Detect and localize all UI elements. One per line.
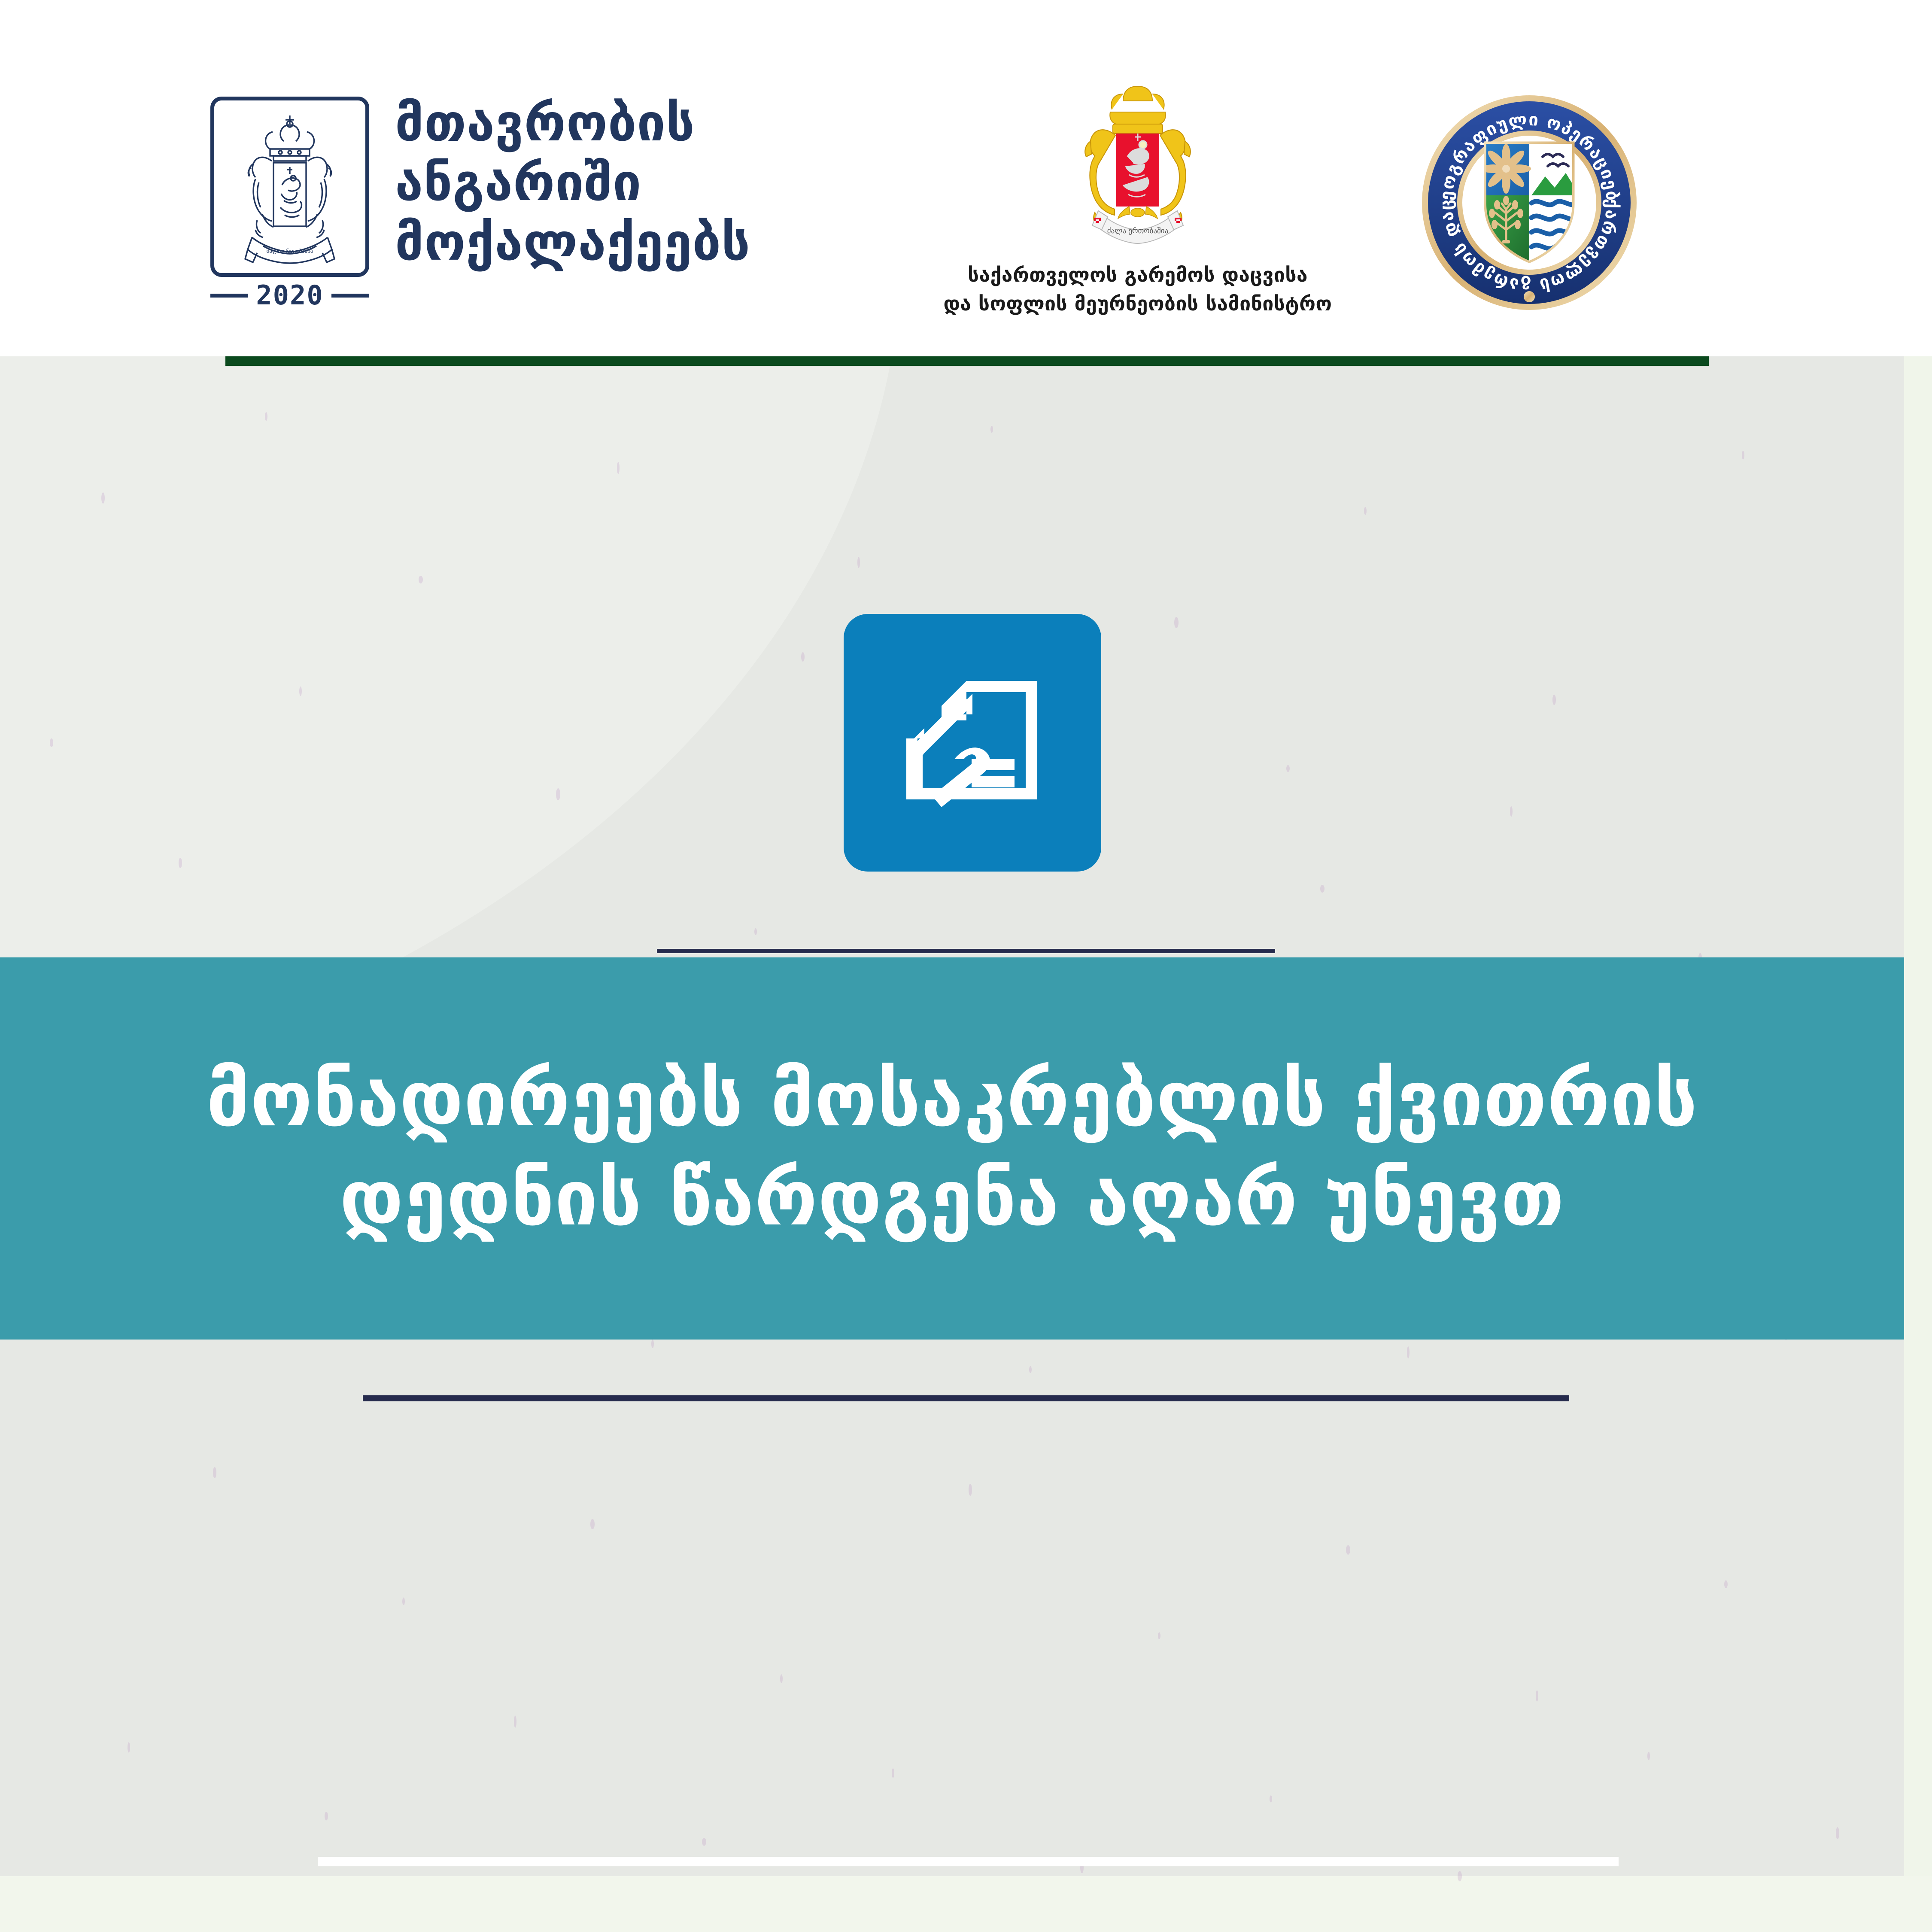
ministry-logo: ძალა ერთობაშია საქართველოს გარემოს დაცვი…: [910, 84, 1365, 318]
year-rule-left: [210, 294, 248, 298]
ministry-name-line-2: და სოფლის მეურნეობის სამინისტრო: [910, 289, 1365, 318]
georgia-coat-of-arms-icon: ძალა ერთობაშია: [1043, 84, 1232, 255]
banner-title-line-2: დედნის წარდგენა აღარ უნევთ: [207, 1148, 1698, 1248]
ministry-name-line-1: საქართველოს გარემოს დაცვისა: [910, 261, 1365, 289]
government-report-logo: ძალა ერთობაშია 2020 მთავრობის ანგარიში მ…: [210, 97, 750, 320]
national-crest-frame: ძალა ერთობაშია: [210, 97, 369, 277]
banner-title-line-1: მონადირეებს მოსაკრებლის ქვითრის: [207, 1054, 1698, 1143]
logo-word-line-1: მთავრობის: [395, 93, 750, 153]
headline-banner: მონადირეებს მოსაკრებლის ქვითრის დედნის წ…: [0, 957, 1904, 1340]
crest-motto: ძალა ერთობაშია: [267, 248, 313, 255]
green-accent-bar: [225, 356, 1709, 366]
coat-of-arms-outline-icon: ძალა ერთობაშია: [225, 109, 354, 264]
divider-below-banner: [363, 1395, 1569, 1401]
logo-word-line-2: ანგარიში: [395, 153, 750, 213]
document-signature-icon: [844, 614, 1101, 872]
page-header: ძალა ერთობაშია 2020 მთავრობის ანგარიში მ…: [0, 0, 1932, 356]
year-rule-right: [331, 294, 369, 298]
logo-wordmark: მთავრობის ანგარიში მოქალაქეებს: [395, 93, 750, 273]
crest-ribbon-motto: ძალა ერთობაშია: [1107, 227, 1168, 235]
agency-seal-icon: გეოგრაფიული ოპერაციები საქართველოს გარემ…: [1419, 92, 1640, 313]
logo-word-line-3: მოქალაქეებს: [395, 213, 750, 272]
divider-white-footer: [318, 1857, 1619, 1866]
banner-title: მონადირეებს მოსაკრებლის ქვითრის დედნის წ…: [151, 1049, 1754, 1248]
page-content: მონადირეებს მოსაკრებლის ქვითრის დედნის წ…: [0, 356, 1932, 1932]
document-pen-glyph: [882, 653, 1063, 833]
divider-above-banner: [657, 949, 1275, 953]
logo-year: 2020: [256, 282, 323, 309]
environment-agency-logo: გეოგრაფიული ოპერაციები საქართველოს გარემ…: [1419, 92, 1640, 315]
logo-year-row: 2020: [210, 282, 369, 309]
